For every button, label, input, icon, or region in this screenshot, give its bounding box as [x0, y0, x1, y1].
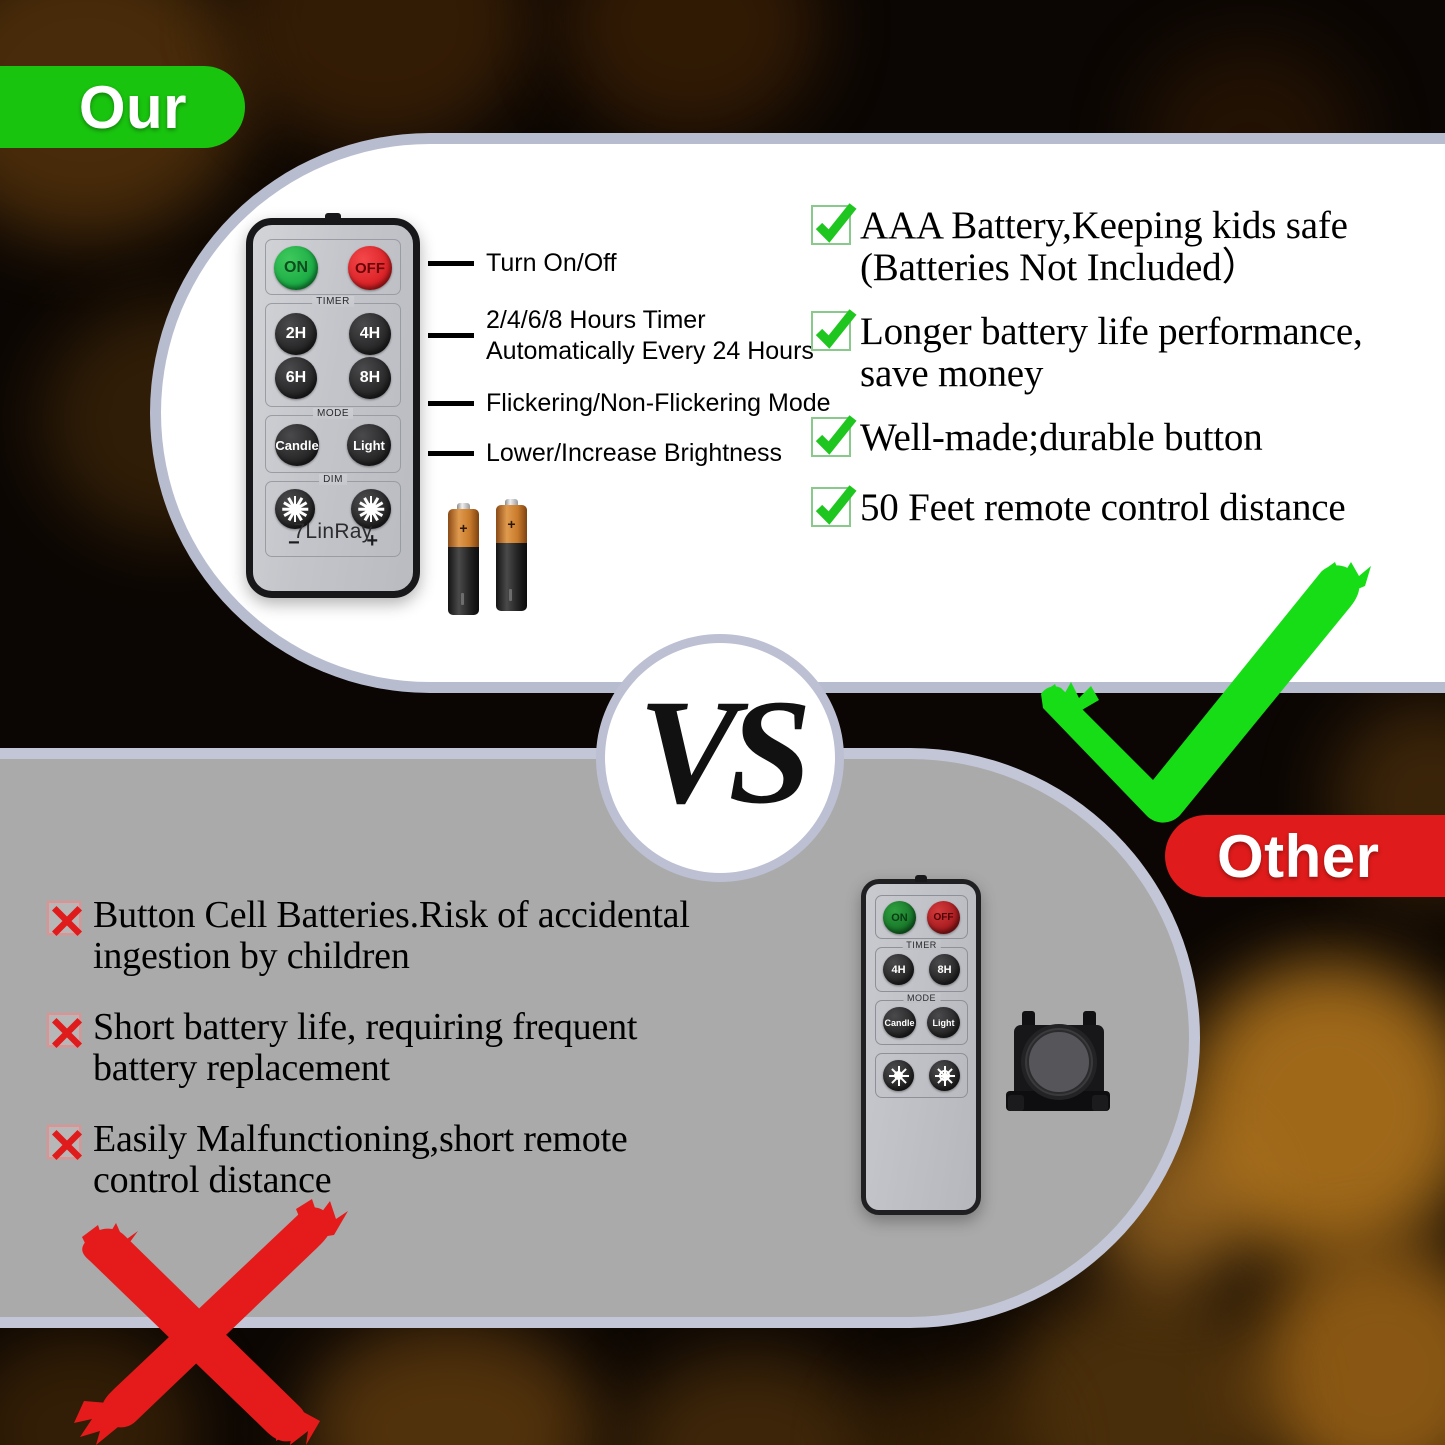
timer-6h-label: 6H: [286, 369, 306, 387]
dim-group-label: DIM: [319, 474, 347, 485]
timer-4h-button[interactable]: 4H: [883, 954, 914, 985]
pros-item-label: Longer battery life performance, save mo…: [860, 311, 1363, 395]
mode-light-label: Light: [933, 1018, 955, 1028]
battery-tick: [461, 593, 464, 605]
mode-button-group: MODE Candle Light: [265, 415, 401, 473]
mode-light-button[interactable]: Light: [347, 424, 391, 466]
callout-leader-line: [428, 451, 474, 456]
off-button-label: OFF: [934, 912, 954, 923]
brightness-up-icon: [935, 1066, 955, 1086]
timer-8h-label: 8H: [360, 369, 380, 387]
cross-icon: [47, 901, 81, 935]
list-item: Longer battery life performance, save mo…: [811, 311, 1426, 395]
mode-candle-button[interactable]: Candle: [883, 1007, 916, 1038]
callout-timer: 2/4/6/8 Hours Timer Automatically Every …: [428, 305, 814, 366]
callout-dim: Lower/Increase Brightness: [428, 438, 782, 469]
callout-leader-line: [428, 333, 474, 338]
brightness-down-icon: [889, 1066, 909, 1086]
on-button-label: ON: [891, 912, 908, 924]
brightness-down-icon: [282, 496, 308, 522]
callout-leader-line: [428, 401, 474, 406]
verdict-cross-icon: [62, 1195, 352, 1445]
cross-icon: [47, 1125, 81, 1159]
infographic-canvas: ON OFF TIMER 2H 4H 6H 8H MODE: [0, 0, 1445, 1445]
ir-emitter-nub: [325, 213, 341, 222]
timer-6h-button[interactable]: 6H: [275, 357, 317, 399]
callout-mode: Flickering/Non-Flickering Mode: [428, 388, 831, 419]
timer-group-label: TIMER: [902, 940, 941, 950]
timer-4h-button[interactable]: 4H: [349, 313, 391, 355]
callout-leader-line: [428, 261, 474, 266]
on-button[interactable]: ON: [883, 901, 916, 934]
aaa-battery-2: +: [496, 503, 527, 611]
list-item: Short battery life, requiring frequent b…: [47, 1007, 767, 1089]
brightness-up-icon: [358, 496, 384, 522]
timer-2h-label: 2H: [286, 325, 306, 343]
cons-item-label: Short battery life, requiring frequent b…: [93, 1007, 637, 1089]
power-button-group: ON OFF: [265, 239, 401, 295]
mode-candle-label: Candle: [884, 1018, 914, 1028]
remote-brand-label: 7LinRay: [253, 520, 413, 544]
off-button[interactable]: OFF: [348, 246, 392, 290]
callout-timer-label: 2/4/6/8 Hours Timer Automatically Every …: [486, 305, 814, 366]
versus-badge: VS: [596, 634, 844, 882]
check-icon: [811, 311, 851, 351]
mode-light-button[interactable]: Light: [927, 1007, 960, 1038]
our-badge: Our: [0, 66, 245, 148]
mode-candle-label: Candle: [275, 438, 318, 453]
mode-candle-button[interactable]: Candle: [275, 424, 319, 466]
mode-light-label: Light: [353, 438, 385, 453]
timer-4h-label: 4H: [360, 325, 380, 343]
timer-group-label: TIMER: [312, 296, 354, 307]
pros-item-label: 50 Feet remote control distance: [860, 487, 1345, 529]
list-item: Easily Malfunctioning,short remote contr…: [47, 1119, 767, 1201]
mode-group-label: MODE: [903, 993, 940, 1003]
check-icon: [811, 487, 851, 527]
callout-mode-label: Flickering/Non-Flickering Mode: [486, 388, 831, 419]
battery-polarity-label: +: [448, 521, 479, 535]
dim-increase-button[interactable]: [929, 1060, 960, 1091]
versus-label: VS: [638, 677, 801, 827]
timer-8h-button[interactable]: 8H: [929, 954, 960, 985]
power-button-group: ON OFF: [875, 895, 968, 939]
dim-button-group: DIM − +: [265, 481, 401, 557]
callout-power-label: Turn On/Off: [486, 248, 617, 279]
aaa-battery-1: +: [448, 507, 479, 615]
verdict-check-icon: [1035, 558, 1380, 828]
list-item: AAA Battery,Keeping kids safe (Batteries…: [811, 205, 1426, 289]
check-icon: [811, 205, 851, 245]
ir-emitter-nub: [915, 875, 927, 882]
check-icon: [811, 417, 851, 457]
list-item: Button Cell Batteries.Risk of accidental…: [47, 895, 767, 977]
pros-item-label: AAA Battery,Keeping kids safe (Batteries…: [860, 205, 1348, 289]
coin-cell-battery-holder: [1004, 1007, 1112, 1123]
battery-polarity-label: +: [496, 517, 527, 531]
list-item: 50 Feet remote control distance: [811, 487, 1426, 529]
competitor-remote-control: ON OFF TIMER 4H 8H MODE Candle Light: [861, 879, 981, 1215]
battery-tick: [509, 589, 512, 601]
timer-8h-label: 8H: [937, 964, 951, 976]
our-remote-control: ON OFF TIMER 2H 4H 6H 8H MODE: [246, 218, 420, 598]
our-badge-label: Our: [79, 73, 187, 142]
timer-4h-label: 4H: [891, 964, 905, 976]
timer-8h-button[interactable]: 8H: [349, 357, 391, 399]
cross-icon: [47, 1013, 81, 1047]
on-button[interactable]: ON: [274, 246, 318, 290]
other-badge-label: Other: [1217, 822, 1380, 891]
mode-button-group: MODE Candle Light: [875, 1000, 968, 1045]
timer-2h-button[interactable]: 2H: [275, 313, 317, 355]
callout-power: Turn On/Off: [428, 248, 617, 279]
list-item: Well-made;durable button: [811, 417, 1426, 459]
cons-item-label: Easily Malfunctioning,short remote contr…: [93, 1119, 628, 1201]
dim-decrease-button[interactable]: [883, 1060, 914, 1091]
off-button-label: OFF: [355, 260, 385, 277]
timer-button-group: TIMER 2H 4H 6H 8H: [265, 303, 401, 407]
on-button-label: ON: [284, 259, 308, 277]
callout-dim-label: Lower/Increase Brightness: [486, 438, 782, 469]
off-button[interactable]: OFF: [927, 901, 960, 934]
pros-item-label: Well-made;durable button: [860, 417, 1263, 459]
cons-item-label: Button Cell Batteries.Risk of accidental…: [93, 895, 690, 977]
pros-list: AAA Battery,Keeping kids safe (Batteries…: [811, 205, 1426, 547]
cons-list: Button Cell Batteries.Risk of accidental…: [47, 895, 767, 1219]
timer-button-group: TIMER 4H 8H: [875, 947, 968, 992]
mode-group-label: MODE: [313, 408, 353, 419]
dim-button-group: [875, 1053, 968, 1098]
